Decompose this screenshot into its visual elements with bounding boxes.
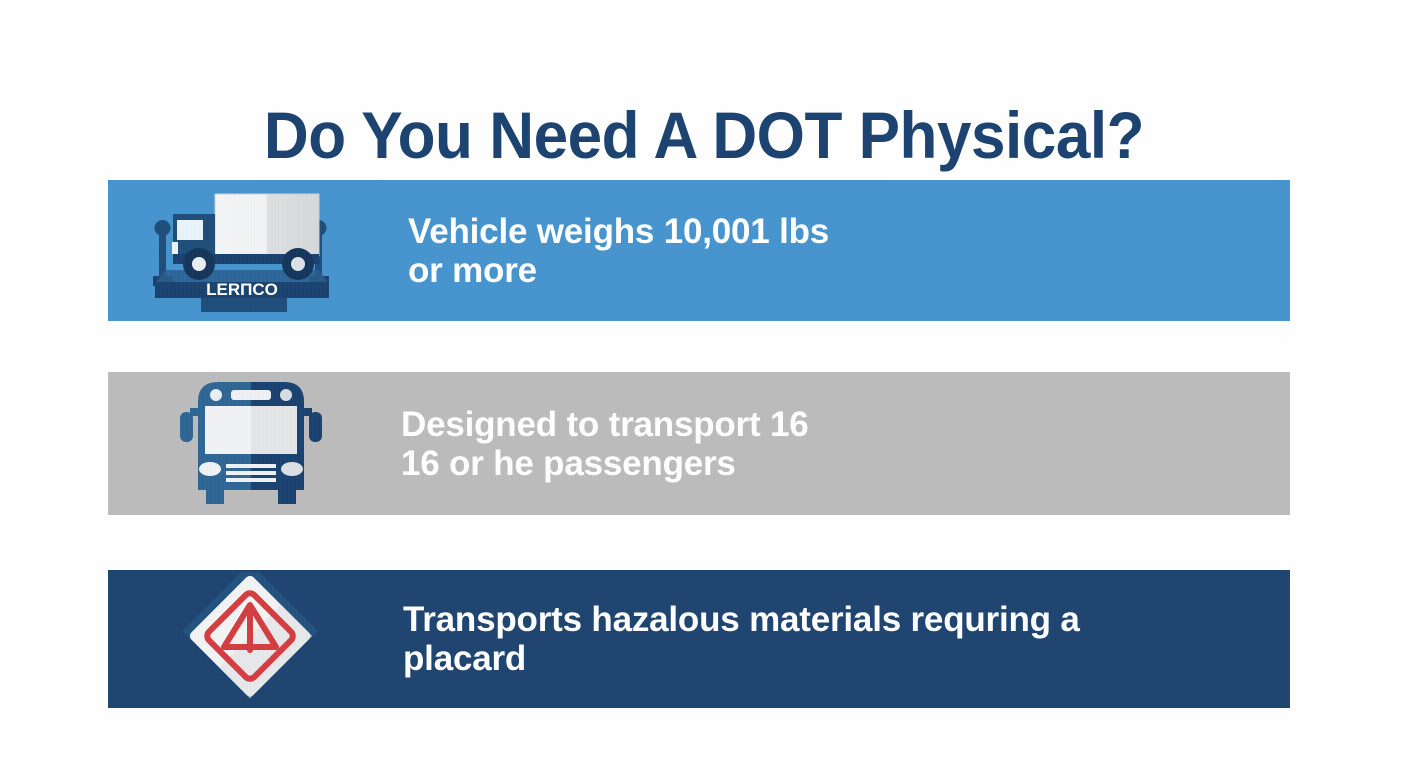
truck-on-weigh-scale-icon: LERΠCO xyxy=(108,180,393,321)
infographic-canvas: Do You Need A DOT Physical? xyxy=(0,0,1408,768)
criterion-text-passengers: Designed to transport 16 16 or he passen… xyxy=(393,405,1290,483)
criterion-line-2: placard xyxy=(403,639,1270,678)
criterion-line-2: or more xyxy=(408,251,1270,290)
criterion-line-2: 16 or he passengers xyxy=(401,444,1270,483)
criterion-text-weight: Vehicle weighs 10,001 lbs or more xyxy=(393,212,1290,290)
criterion-line-1: Vehicle weighs 10,001 lbs xyxy=(408,212,1270,251)
criterion-row-passengers: Designed to transport 16 16 or he passen… xyxy=(108,372,1290,515)
criterion-row-weight: LERΠCO Vehicle weighs 10,001 lbs or more xyxy=(108,180,1290,321)
criterion-line-1: Designed to transport 16 xyxy=(401,405,1270,444)
criterion-line-1: Transports hazalous materials requring a xyxy=(403,600,1270,639)
weigh-scale-brand-label: LERΠCO xyxy=(206,280,278,299)
criterion-text-hazmat: Transports hazalous materials requring a… xyxy=(393,600,1290,678)
criterion-row-hazmat: Transports hazalous materials requring a… xyxy=(108,570,1290,708)
hazmat-placard-icon xyxy=(108,570,393,708)
page-title: Do You Need A DOT Physical? xyxy=(42,96,1366,174)
bus-front-icon xyxy=(108,372,393,515)
